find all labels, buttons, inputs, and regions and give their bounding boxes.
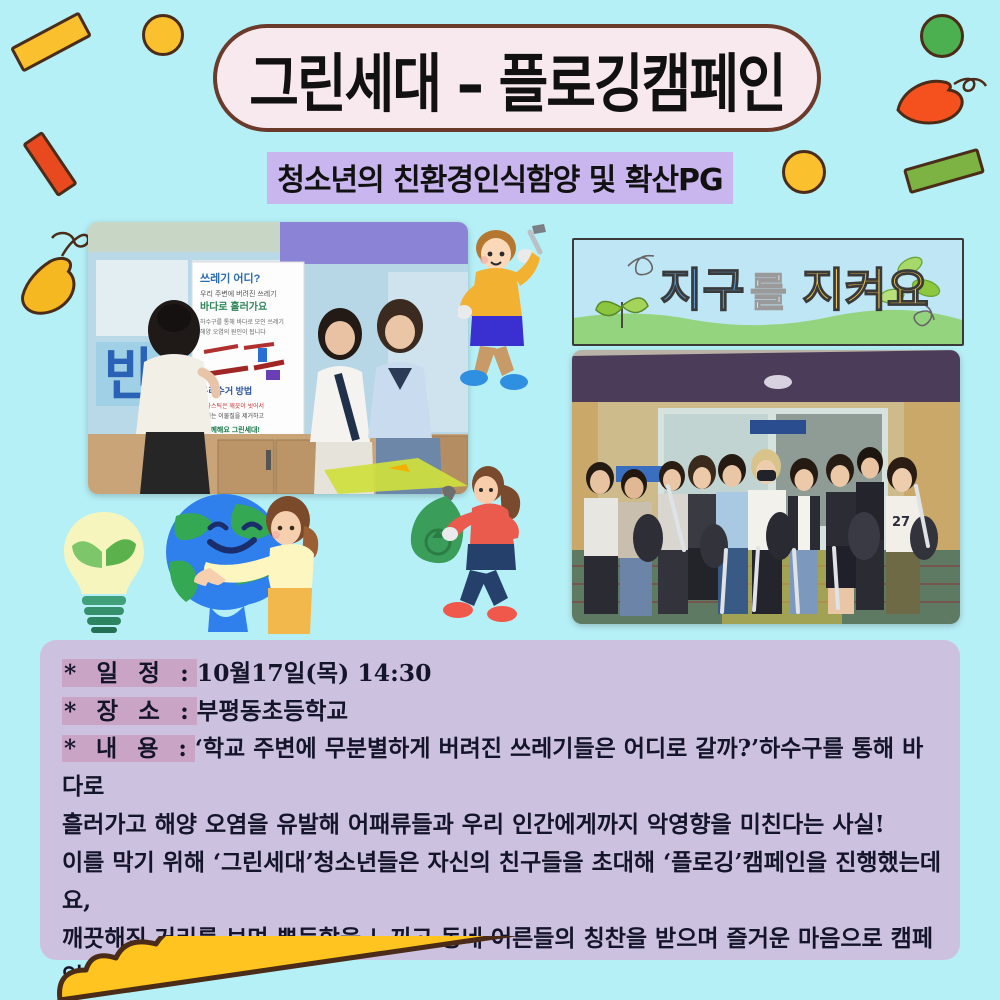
svg-text:바다로 흘러가요: 바다로 흘러가요 [200,300,267,313]
content-row-2: 흘러가고 해양 오염을 유발해 어패류들과 우리 인간에게까지 악영향을 미친다… [62,806,942,844]
orange-leaf-decoration [892,72,988,132]
schedule-label: * 일 정 : [62,659,197,687]
eco-lightbulb-illustration [56,508,152,634]
place-label: * 장 소 : [62,697,197,725]
place-value: 부평동초등학교 [197,697,348,725]
banner-text-2: 를 [750,270,787,316]
svg-text:분리수거 방법: 분리수거 방법 [200,385,252,396]
poster-subtitle: 청소년의 친환경인식함양 및 확산PG [267,152,732,204]
poster-canvas: 그린세대 – 플로깅캠페인 청소년의 친환경인식함양 및 확산PG 반ㄱ 쓰레기… [0,0,1000,1000]
content-row-3: 이를 막기 위해 ‘그린세대’청소년들은 자신의 친구들을 초대해 ‘플로깅’캠… [62,844,942,920]
bottom-cloud-decoration [0,936,1000,1000]
banner-text-1: 지구 [660,263,745,317]
protect-the-earth-banner: 지구 를 지켜요 [572,238,964,346]
content-row-1: * 내 용 :‘학교 주변에 무분별하게 버려진 쓰레기들은 어디로 갈까?’하… [62,730,942,806]
classroom-presentation-photo: 반ㄱ 쓰레기 어디? 우리 주변에 버려진 쓰레기 바다로 흘러가요 하수구를 … [88,222,468,494]
green-dot-decoration [920,14,964,58]
content-label: * 내 용 : [62,735,195,762]
svg-text:우리 주변에 버려진 쓰레기: 우리 주변에 버려진 쓰레기 [200,289,277,298]
svg-text:플라스틱은 깨끗이 씻어서: 플라스틱은 깨끗이 씻어서 [200,402,264,410]
group-plogging-photo: 27 [572,350,960,624]
svg-text:함께해요 그린세대!: 함께해요 그린세대! [204,425,260,434]
svg-text:해양 오염의 원인이 됩니다: 해양 오염의 원인이 됩니다 [200,328,266,336]
banner-text-3: 지켜요 [802,263,929,317]
girl-trashbag-illustration [400,460,540,630]
svg-text:27: 27 [892,515,910,530]
info-panel: * 일 정 :10월17일(목) 14:30 * 장 소 :부평동초등학교 * … [40,640,960,960]
place-row: * 장 소 :부평동초등학교 [62,692,942,730]
svg-text:하수구를 통해 바다로 모인 쓰레기: 하수구를 통해 바다로 모인 쓰레기 [200,318,284,326]
schedule-row: * 일 정 :10월17일(목) 14:30 [62,654,942,692]
page-title: 그린세대 – 플로깅캠페인 [249,31,784,124]
poster-subtitle-row: 청소년의 친환경인식함양 및 확산PG [0,152,1000,204]
yellow-bar-decoration [10,11,92,72]
boy-picker-illustration [458,222,564,390]
yellow-dot-decoration-topleft [142,14,184,56]
schedule-value: 10월17일(목) 14:30 [197,659,432,687]
earth-hug-illustration [152,490,332,634]
svg-text:쓰레기 어디?: 쓰레기 어디? [200,271,261,285]
poster-title-pill: 그린세대 – 플로깅캠페인 [213,24,821,132]
